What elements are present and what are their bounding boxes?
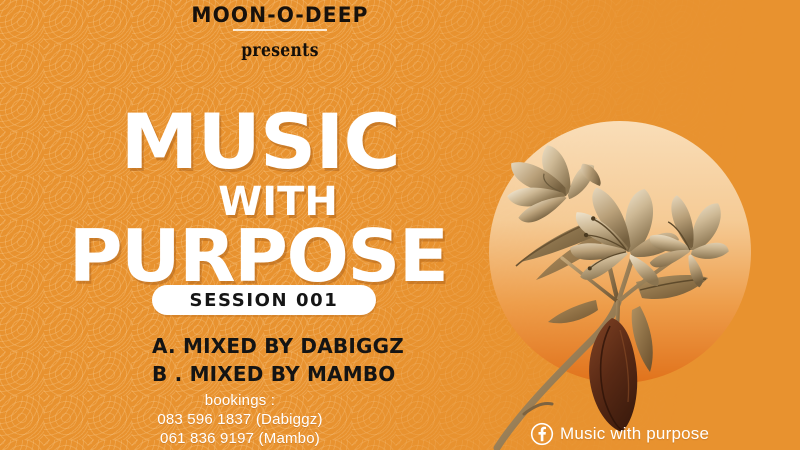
presents-label: presents [50, 39, 509, 61]
session-label: SESSION 001 [190, 290, 339, 311]
bookings-contact-2: 061 836 9197 (Mambo) [0, 430, 480, 449]
headline-line-1: MUSIC [0, 104, 518, 180]
credits-block: A. MIXED BY DABIGGZ B . MIXED BY MAMBO [152, 333, 404, 388]
credit-line-b: B . MIXED BY MAMBO [152, 361, 404, 389]
bookings-block: bookings : 083 596 1837 (Dabiggz) 061 83… [0, 392, 480, 449]
brand-divider [233, 29, 327, 31]
social-row[interactable]: Music with purpose [530, 422, 709, 446]
poster-canvas: MOON-O-DEEP presents MUSIC WITH PURPOSE … [0, 0, 800, 450]
session-badge: SESSION 001 [152, 285, 376, 315]
bookings-heading: bookings : [0, 392, 480, 411]
brand-block: MOON-O-DEEP presents [0, 4, 560, 61]
credit-line-a: A. MIXED BY DABIGGZ [152, 333, 404, 361]
headline-line-3: PURPOSE [0, 220, 515, 292]
brand-name: MOON-O-DEEP [11, 4, 549, 26]
facebook-icon[interactable] [530, 422, 554, 446]
headline-block: MUSIC WITH PURPOSE [0, 104, 510, 292]
bookings-contact-1: 083 596 1837 (Dabiggz) [0, 411, 480, 430]
social-handle[interactable]: Music with purpose [560, 424, 709, 444]
